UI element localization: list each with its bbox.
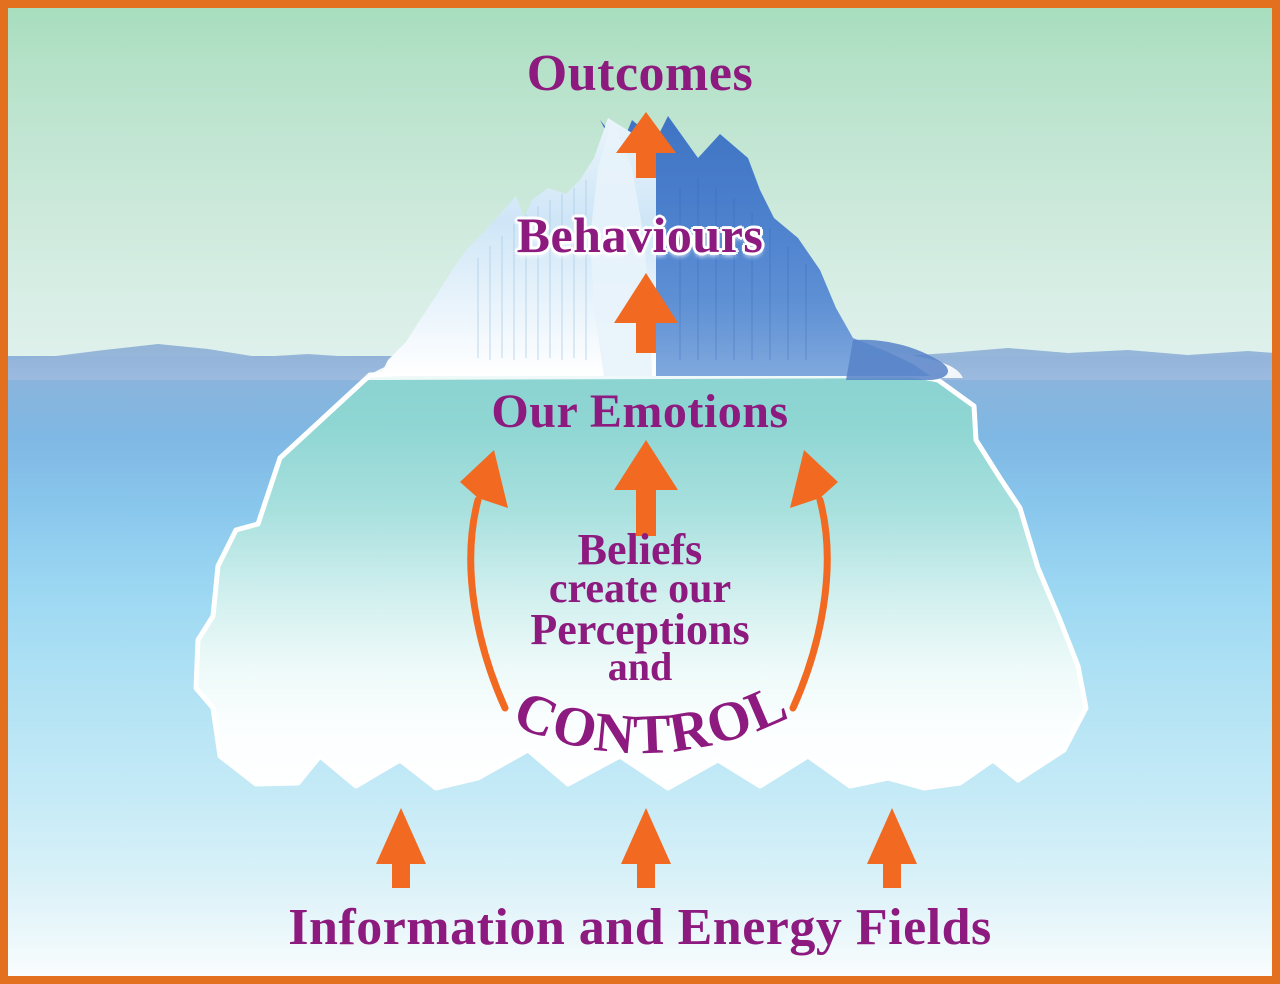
label-our-emotions: Our Emotions (8, 384, 1272, 439)
arrow-layer (8, 8, 1280, 984)
bottom-arrow-right-icon (867, 808, 917, 888)
label-behaviours: Behaviours (8, 206, 1272, 264)
bottom-arrow-left-icon (376, 808, 426, 888)
emotions-center-arrow-icon (614, 440, 678, 536)
label-information-and-energy-fields: Information and Energy Fields (8, 898, 1272, 957)
bottom-arrow-center-icon (621, 808, 671, 888)
iceberg-diagram: Outcomes Behaviours Our Emotions Beliefs… (0, 0, 1280, 984)
behaviours-arrow-icon (614, 273, 678, 353)
center-text-line-4: and (8, 647, 1272, 686)
outcomes-arrow-icon (616, 112, 676, 178)
label-outcomes: Outcomes (8, 44, 1272, 103)
center-text-line-2: create our (8, 569, 1272, 610)
center-text-block: Beliefs create our Perceptions and (8, 528, 1272, 687)
center-text-line-1: Beliefs (8, 528, 1272, 571)
